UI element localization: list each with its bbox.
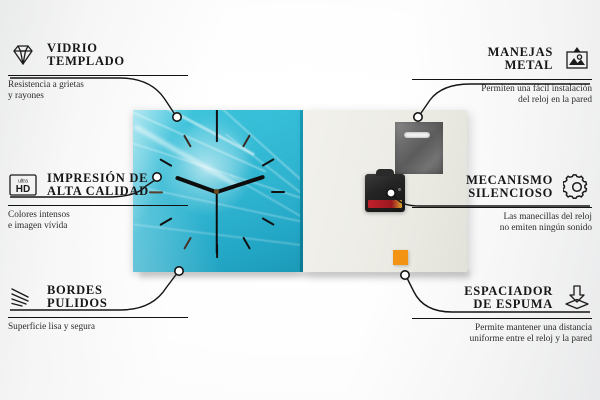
feature-mecanismo-silencioso: MECANISMO SILENCIOSO Las manecillas del … bbox=[412, 172, 592, 234]
svg-text:HD: HD bbox=[16, 184, 30, 195]
feature-rule bbox=[412, 318, 592, 319]
feature-description: Colores intensos e imagen vívida bbox=[8, 210, 188, 232]
clock-minute-hand bbox=[216, 174, 265, 193]
infographic-canvas: VIDRIO TEMPLADO Resistencia a grietas y … bbox=[0, 0, 600, 400]
feature-description: Permite mantener una distancia uniforme … bbox=[412, 323, 592, 345]
feature-rule bbox=[8, 317, 188, 318]
feature-description: Permiten una fácil instalación del reloj… bbox=[412, 84, 592, 106]
feature-header: MANEJAS METAL bbox=[412, 44, 592, 74]
feature-rule bbox=[8, 75, 188, 76]
metal-hanger-plate bbox=[395, 122, 443, 174]
feature-header: ESPACIADOR DE ESPUMA bbox=[412, 283, 592, 313]
feature-title: MANEJAS METAL bbox=[488, 46, 553, 73]
mechanism-lug bbox=[376, 169, 394, 176]
feature-header: MECANISMO SILENCIOSO bbox=[412, 172, 592, 202]
feature-vidrio-templado: VIDRIO TEMPLADO Resistencia a grietas y … bbox=[8, 40, 188, 102]
ultra-hd-icon: ultra HD bbox=[8, 170, 38, 200]
feature-title: IMPRESIÓN DE ALTA CALIDAD bbox=[47, 172, 149, 199]
feature-header: VIDRIO TEMPLADO bbox=[8, 40, 188, 70]
feature-title: MECANISMO SILENCIOSO bbox=[466, 174, 553, 201]
feature-description: Resistencia a grietas y rayones bbox=[8, 80, 188, 102]
feature-impresion-alta-calidad: ultra HD IMPRESIÓN DE ALTA CALIDAD Color… bbox=[8, 170, 188, 232]
feature-rule bbox=[8, 205, 188, 206]
gear-icon bbox=[562, 172, 592, 202]
feature-header: BORDES PULIDOS bbox=[8, 282, 188, 312]
feature-header: ultra HD IMPRESIÓN DE ALTA CALIDAD bbox=[8, 170, 188, 200]
diamond-icon bbox=[8, 40, 38, 70]
mechanism-dot bbox=[398, 188, 401, 191]
polished-edges-icon bbox=[8, 282, 38, 312]
feature-manejas-metal: MANEJAS METAL Permiten una fácil instala… bbox=[412, 44, 592, 106]
feature-title: ESPACIADOR DE ESPUMA bbox=[464, 285, 553, 312]
feature-espaciador-de-espuma: ESPACIADOR DE ESPUMA Permite mantener un… bbox=[412, 283, 592, 345]
feature-rule bbox=[412, 207, 592, 208]
clock-second-hand bbox=[216, 192, 218, 254]
feature-description: Superficie lisa y segura bbox=[8, 322, 188, 333]
feature-description: Las manecillas del reloj no emiten ningú… bbox=[412, 212, 592, 234]
foam-spacer-arrow-icon bbox=[562, 283, 592, 313]
clock-center-cap bbox=[214, 189, 219, 194]
product-drop-shadow bbox=[140, 271, 470, 281]
clock-mechanism bbox=[365, 174, 405, 212]
feature-title: BORDES PULIDOS bbox=[47, 284, 107, 311]
foam-spacer-pad bbox=[393, 250, 408, 265]
battery-strip bbox=[368, 200, 402, 208]
feature-title: VIDRIO TEMPLADO bbox=[47, 42, 125, 69]
feature-rule bbox=[412, 79, 592, 80]
feature-bordes-pulidos: BORDES PULIDOS Superficie lisa y segura bbox=[8, 282, 188, 333]
picture-frame-hanger-icon bbox=[562, 44, 592, 74]
